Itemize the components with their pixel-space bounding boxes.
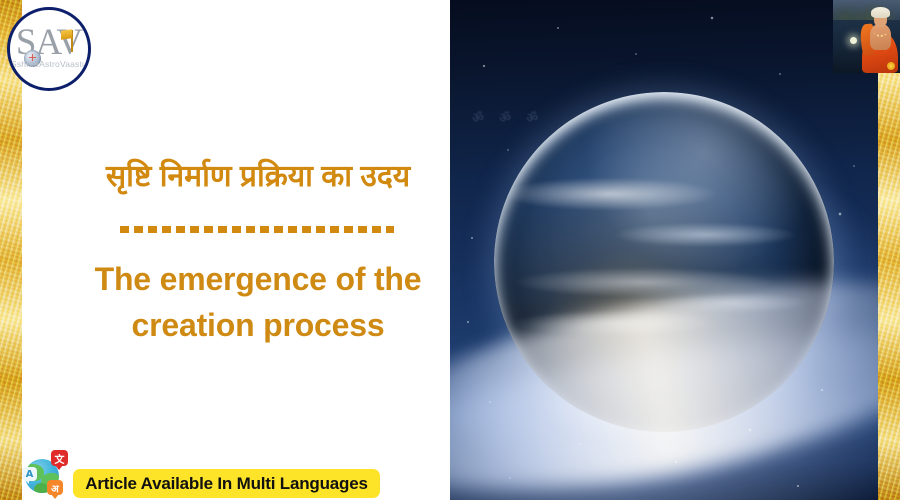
left-text-panel: सृष्टि निर्माण प्रक्रिया का उदय The emer… — [22, 0, 450, 500]
guru-portrait-inset — [833, 0, 900, 73]
latin-bubble-icon: A — [22, 467, 37, 481]
brand-name: SshreeAstroVaastu — [10, 59, 88, 69]
moon-reflection — [850, 37, 857, 44]
headline-english: The emergence of the creation process — [44, 256, 472, 349]
multi-language-banner[interactable]: Article Available In Multi Languages — [73, 469, 380, 498]
translate-globe-icon: A 文 अ — [22, 450, 68, 496]
headline-hindi: सृष्टि निर्माण प्रक्रिया का उदय — [44, 158, 472, 196]
cosmos-planet-photo: ॐ ॐ ॐ — [450, 0, 878, 500]
sage-figure — [860, 6, 900, 73]
dashed-divider — [120, 226, 394, 233]
marigold-flower-icon — [887, 62, 895, 70]
brand-monogram: SAV — [10, 24, 88, 61]
brand-logo-badge[interactable]: SAV SshreeAstroVaastu — [7, 7, 91, 91]
chinese-bubble-icon: 文 — [51, 450, 68, 466]
flag-icon — [61, 29, 72, 40]
gold-glitter-border-right — [878, 0, 900, 500]
poster-canvas: सृष्टि निर्माण प्रक्रिया का उदय The emer… — [0, 0, 900, 500]
sage-turban — [871, 7, 890, 18]
multi-language-banner-label: Article Available In Multi Languages — [85, 474, 368, 494]
hindi-bubble-icon: अ — [47, 480, 63, 495]
prayer-beads-icon — [874, 27, 887, 37]
